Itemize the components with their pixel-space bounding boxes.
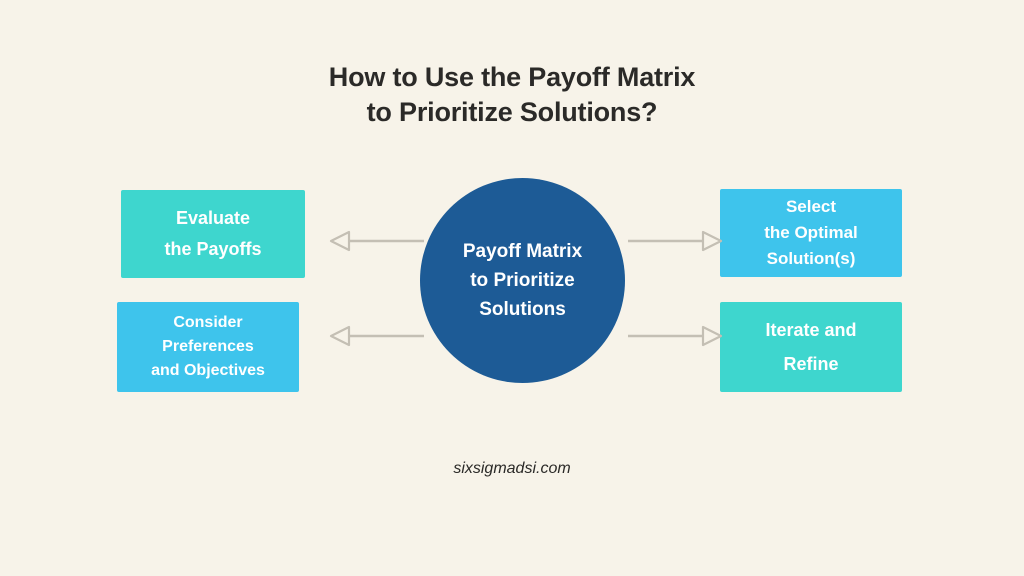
center-node-label: Payoff Matrix to Prioritize Solutions [447, 237, 598, 324]
page-title-line-2: to Prioritize Solutions? [0, 95, 1024, 130]
arrow-right-icon [628, 325, 724, 347]
center-node-line-1: Payoff Matrix [463, 237, 582, 266]
footer-website-label: sixsigmadsi.com [0, 460, 1024, 478]
box-consider-line-1: Consider [151, 311, 265, 335]
box-select-line-2: the Optimal [764, 220, 858, 246]
box-consider-line-3: and Objectives [151, 359, 265, 383]
box-iterate-and-refine: Iterate and Refine [720, 302, 902, 392]
box-select-the-optimal-solutions: Select the Optimal Solution(s) [720, 189, 902, 277]
box-consider-label: Consider Preferences and Objectives [151, 311, 265, 383]
center-node-line-3: Solutions [463, 295, 582, 324]
box-evaluate-line-2: the Payoffs [164, 234, 261, 265]
box-consider-preferences-and-objectives: Consider Preferences and Objectives [117, 302, 299, 392]
box-evaluate-line-1: Evaluate [164, 203, 261, 234]
arrow-left-icon [328, 325, 424, 347]
box-select-label: Select the Optimal Solution(s) [764, 194, 858, 272]
box-evaluate-the-payoffs: Evaluate the Payoffs [121, 190, 305, 278]
arrow-right-icon [628, 230, 724, 252]
box-iterate-line-2: Refine [765, 347, 856, 381]
arrow-left-icon [328, 230, 424, 252]
diagram-canvas: How to Use the Payoff Matrix to Prioriti… [0, 0, 1024, 576]
box-consider-line-2: Preferences [151, 335, 265, 359]
center-node-payoff-matrix: Payoff Matrix to Prioritize Solutions [420, 178, 625, 383]
center-node-line-2: to Prioritize [463, 266, 582, 295]
page-title: How to Use the Payoff Matrix to Prioriti… [0, 60, 1024, 130]
box-select-line-1: Select [764, 194, 858, 220]
box-evaluate-label: Evaluate the Payoffs [164, 203, 261, 265]
box-iterate-line-1: Iterate and [765, 313, 856, 347]
box-iterate-label: Iterate and Refine [765, 313, 856, 381]
page-title-line-1: How to Use the Payoff Matrix [0, 60, 1024, 95]
box-select-line-3: Solution(s) [764, 246, 858, 272]
